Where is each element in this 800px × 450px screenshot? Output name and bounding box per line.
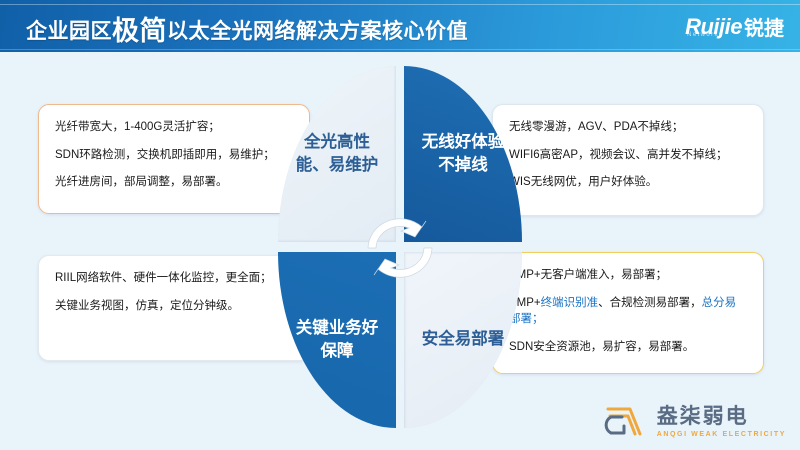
anqgi-text-block: 盎柒弱电 ANQGI WEAK ELECTRICITY [657,400,786,438]
anqgi-cn-name: 盎柒弱电 [657,400,786,430]
anqgi-en-name: ANQGI WEAK ELECTRICITY [657,431,786,438]
slide-canvas: 企业园区极简以太全光网络解决方案核心价值 Ruijie锐捷 Networks 光… [0,0,800,450]
card-tl-line-1: 光纤带宽大，1-400G灵活扩容； [55,119,293,136]
title-prefix: 企业园区 [26,20,112,43]
quadrant-bl-label: 关键业务好保障 [294,317,380,364]
ruijie-tagline: Networks [687,32,723,38]
value-wheel: 全光高性能、易维护 无线好体验不掉线 关键业务好保障 安全易部署 [278,66,522,428]
quadrant-tl-label: 全光高性能、易维护 [294,131,380,178]
page-title: 企业园区极简以太全光网络解决方案核心价值 [26,9,468,48]
anqgi-brand-logo: 盎柒弱电 ANQGI WEAK ELECTRICITY [598,400,786,442]
card-tr-line-3: WIS无线网优，用户好体验。 [509,174,747,191]
title-suffix: 以太全光网络解决方案核心价值 [167,20,468,43]
circular-arrows-icon [360,212,440,284]
card-br-line-3: SDN安全资源池，易扩容，易部署。 [509,339,747,356]
card-tr-line-1: 无线零漫游，AGV、PDA不掉线； [509,119,747,136]
quadrant-br-label: 安全易部署 [420,328,506,351]
rotation-arrows [360,212,440,284]
card-tl-line-3: 光纤进房间，部局调整，易部署。 [55,174,293,191]
card-secure-deployment: SMP+无客户端准入，易部署； SMP+终端识别准、合规检测易部署，总分易部署；… [492,252,764,374]
card-bl-line-2: 关键业务视图，仿真，定位分钟级。 [55,298,293,315]
card-wireless-experience: 无线零漫游，AGV、PDA不掉线； WIFI6高密AP，视频会议、高并发不掉线；… [492,104,764,216]
card-br-line-2-b: 终端识别准 [541,297,599,309]
card-tr-line-2: WIFI6高密AP，视频会议、高并发不掉线； [509,147,747,164]
ruijie-cn-name: 锐捷 [744,12,784,41]
title-emphasis: 极简 [112,16,167,46]
card-critical-business: RIIL网络软件、硬件一体化监控，更全面； 关键业务视图，仿真，定位分钟级。 [38,255,310,361]
card-br-line-1: SMP+无客户端准入，易部署； [509,267,747,284]
card-br-line-2: SMP+终端识别准、合规检测易部署，总分易部署； [509,295,747,328]
content-stage: 光纤带宽大，1-400G灵活扩容； SDN环路检测，交换机即插即用，易维护； 光… [0,52,800,450]
card-br-line-2-c: 、合规检测易部署， [598,297,702,309]
card-bl-line-1: RIIL网络软件、硬件一体化监控，更全面； [55,270,293,287]
card-all-optical-performance: 光纤带宽大，1-400G灵活扩容； SDN环路检测，交换机即插即用，易维护； 光… [38,104,310,214]
anqgi-mark-icon [598,400,646,438]
slide-header: 企业园区极简以太全光网络解决方案核心价值 Ruijie锐捷 Networks [0,0,800,52]
quadrant-tr-label: 无线好体验不掉线 [420,131,506,178]
card-tl-line-2: SDN环路检测，交换机即插即用，易维护； [55,147,293,164]
ruijie-logo: Ruijie锐捷 Networks [685,12,784,42]
